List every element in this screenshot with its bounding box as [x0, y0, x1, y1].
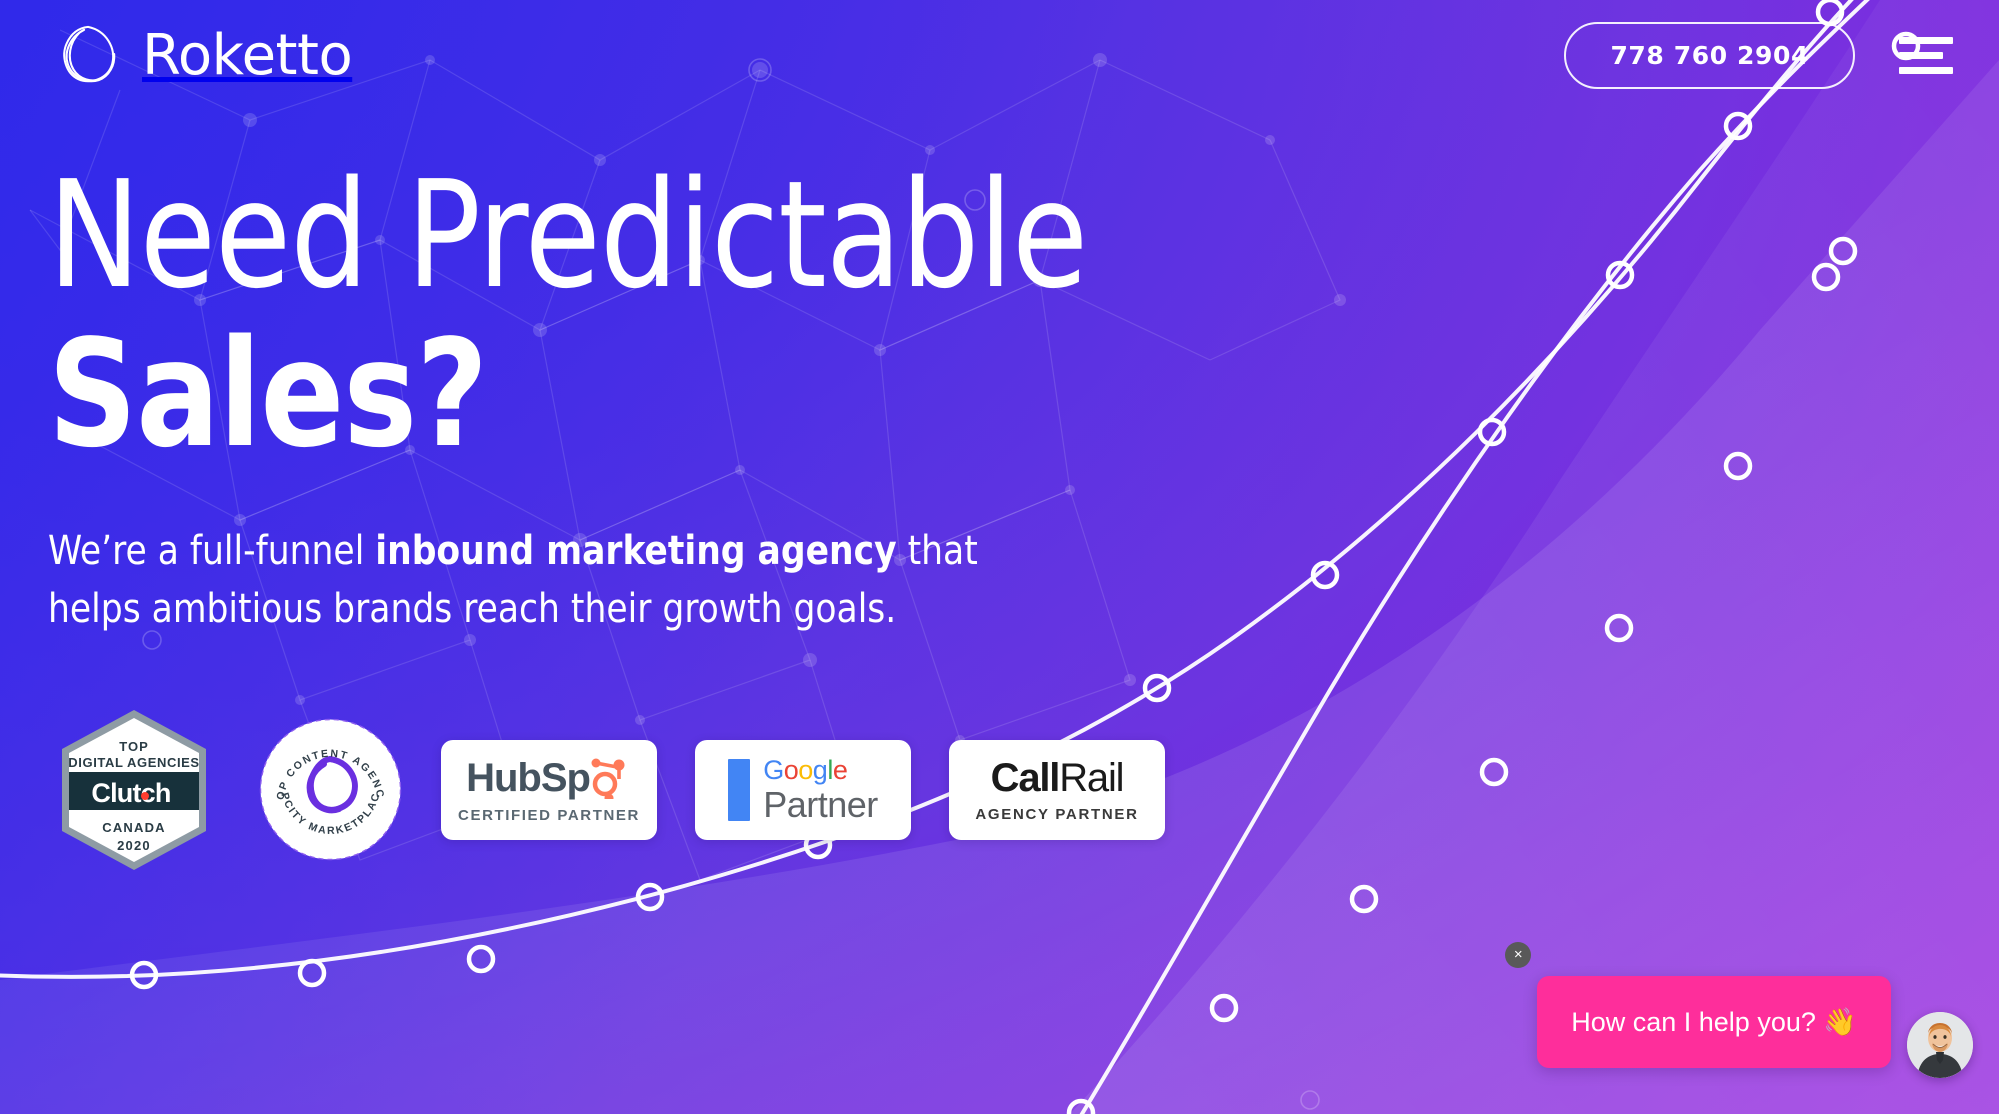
site-header: Roketto 778 760 2904 [0, 0, 1999, 110]
svg-text:Clutch: Clutch [91, 778, 170, 808]
subtitle-emphasis: inbound marketing agency [375, 528, 896, 574]
hubspot-certified-partner-badge[interactable]: HubSp CERTIFIED PARTNER [441, 740, 657, 840]
google-blue-bar [728, 759, 750, 821]
svg-text:TOP: TOP [119, 739, 149, 754]
subtitle-part-1: We’re a full-funnel [48, 528, 375, 574]
hubspot-subtitle: CERTIFIED PARTNER [458, 807, 640, 824]
svg-text:DIGITAL AGENCIES: DIGITAL AGENCIES [68, 755, 199, 770]
brand-name: Roketto [142, 23, 352, 88]
hubspot-brand-text: HubSp [466, 756, 590, 801]
page-title: Need Predictable Sales? [48, 160, 1298, 470]
header-actions: 778 760 2904 [1564, 22, 1953, 89]
callrail-wordmark: CallRail [991, 756, 1124, 801]
hubspot-wordmark: HubSp [466, 756, 632, 801]
hamburger-menu-icon[interactable] [1899, 33, 1953, 77]
callrail-subtitle: AGENCY PARTNER [975, 806, 1138, 823]
chat-message-bubble[interactable]: How can I help you? 👋 [1537, 976, 1891, 1068]
brand-logo-link[interactable]: Roketto [58, 23, 352, 88]
svg-text:2020: 2020 [117, 838, 151, 853]
headline-line-2: Sales? [48, 319, 1211, 470]
phone-button[interactable]: 778 760 2904 [1564, 22, 1855, 89]
svg-text:CANADA: CANADA [102, 820, 166, 835]
headline-line-1: Need Predictable [48, 160, 1211, 311]
support-agent-avatar[interactable] [1907, 1012, 1973, 1078]
google-partner-badge[interactable]: Google Partner [695, 740, 911, 840]
hero-subtitle: We’re a full-funnel inbound marketing ag… [48, 522, 1008, 638]
callrail-agency-partner-badge[interactable]: CallRail AGENCY PARTNER [949, 740, 1165, 840]
roketto-loop-logo-icon [58, 23, 120, 87]
trust-badges: TOP DIGITAL AGENCIES Clutch CANADA 2020 [48, 704, 1298, 876]
upcity-top-content-agency-badge[interactable]: TOP CONTENT AGENCY UPCITY MARKETPLACE [258, 717, 403, 862]
google-partner-text: Partner [763, 787, 878, 823]
clutch-top-digital-agencies-badge[interactable]: TOP DIGITAL AGENCIES Clutch CANADA 2020 [48, 704, 220, 876]
chat-widget: × How can I help you? 👋 [1537, 976, 1973, 1078]
hubspot-sprocket-icon [588, 757, 632, 799]
google-wordmark: Google [763, 757, 878, 784]
